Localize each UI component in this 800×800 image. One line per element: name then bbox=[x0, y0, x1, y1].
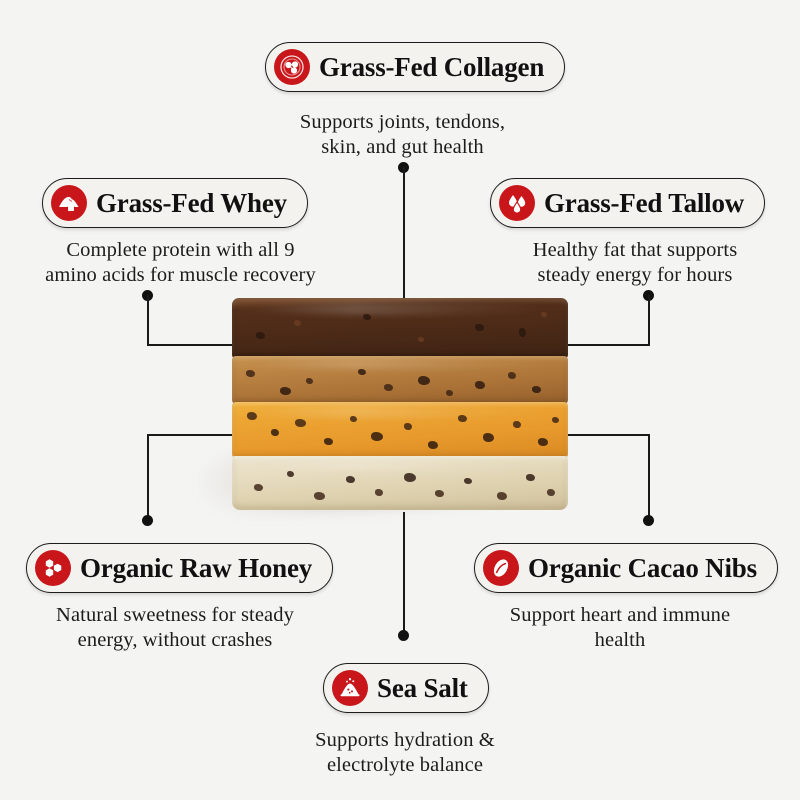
salt-pile-icon bbox=[332, 670, 368, 706]
product-layer-cream bbox=[232, 456, 568, 510]
connector-line-honey-vertical bbox=[147, 434, 149, 520]
cacao-bean-icon bbox=[483, 550, 519, 586]
description-line-2: electrolyte balance bbox=[270, 753, 540, 778]
ingredient-pill-label: Grass-Fed Tallow bbox=[544, 190, 744, 217]
product-image-bar-stack bbox=[232, 298, 568, 510]
honeycomb-icon bbox=[35, 550, 71, 586]
description-line-1: Healthy fat that supports bbox=[490, 238, 780, 263]
fat-droplets-icon bbox=[499, 185, 535, 221]
product-layer-golden-honey bbox=[232, 402, 568, 458]
ingredient-pill-label: Organic Cacao Nibs bbox=[528, 555, 757, 582]
description-line-2: health bbox=[470, 628, 770, 653]
description-line-2: amino acids for muscle recovery bbox=[8, 263, 353, 288]
description-line-1: Supports hydration & bbox=[270, 728, 540, 753]
ingredient-pill-grass-fed-whey[interactable]: Grass-Fed Whey bbox=[42, 178, 308, 228]
ingredient-pill-organic-raw-honey[interactable]: Organic Raw Honey bbox=[26, 543, 333, 593]
ingredient-pill-organic-cacao-nibs[interactable]: Organic Cacao Nibs bbox=[474, 543, 778, 593]
layer-sheen bbox=[245, 359, 554, 370]
connector-line-tallow-vertical bbox=[648, 295, 650, 345]
product-layer-dark-chocolate bbox=[232, 298, 568, 358]
description-line-1: Support heart and immune bbox=[470, 603, 770, 628]
connector-dot-honey bbox=[142, 515, 153, 526]
layer-sheen bbox=[245, 405, 554, 417]
ingredient-description-organic-raw-honey: Natural sweetness for steady energy, wit… bbox=[15, 603, 335, 654]
product-layer-caramel bbox=[232, 356, 568, 404]
collagen-molecule-icon bbox=[274, 49, 310, 85]
ingredient-pill-sea-salt[interactable]: Sea Salt bbox=[323, 663, 489, 713]
connector-line-whey-horizontal bbox=[147, 344, 233, 346]
ingredient-pill-label: Organic Raw Honey bbox=[80, 555, 312, 582]
ingredient-description-sea-salt: Supports hydration & electrolyte balance bbox=[270, 728, 540, 779]
ingredient-pill-label: Grass-Fed Whey bbox=[96, 190, 287, 217]
ingredient-pill-grass-fed-collagen[interactable]: Grass-Fed Collagen bbox=[265, 42, 565, 92]
layer-sheen bbox=[245, 302, 554, 315]
description-line-2: energy, without crashes bbox=[15, 628, 335, 653]
connector-line-cacao-vertical bbox=[648, 434, 650, 520]
description-line-1: Supports joints, tendons, bbox=[240, 110, 565, 135]
ingredient-description-grass-fed-tallow: Healthy fat that supports steady energy … bbox=[490, 238, 780, 289]
connector-dot-sea-salt bbox=[398, 630, 409, 641]
connector-line-tallow-horizontal bbox=[568, 344, 650, 346]
layer-sheen bbox=[245, 459, 554, 471]
connector-line-collagen bbox=[403, 167, 405, 298]
connector-dot-cacao bbox=[643, 515, 654, 526]
ingredient-pill-label: Sea Salt bbox=[377, 675, 468, 702]
protein-scoop-icon bbox=[51, 185, 87, 221]
connector-line-sea-salt bbox=[403, 512, 405, 633]
ingredient-description-organic-cacao-nibs: Support heart and immune health bbox=[470, 603, 770, 654]
ingredient-description-grass-fed-collagen: Supports joints, tendons, skin, and gut … bbox=[240, 110, 565, 161]
ingredient-description-grass-fed-whey: Complete protein with all 9 amino acids … bbox=[8, 238, 353, 289]
ingredient-pill-grass-fed-tallow[interactable]: Grass-Fed Tallow bbox=[490, 178, 765, 228]
connector-line-cacao-horizontal bbox=[568, 434, 650, 436]
description-line-2: steady energy for hours bbox=[490, 263, 780, 288]
connector-dot-whey bbox=[142, 290, 153, 301]
connector-line-whey-vertical bbox=[147, 295, 149, 345]
description-line-1: Complete protein with all 9 bbox=[8, 238, 353, 263]
connector-dot-collagen bbox=[398, 162, 409, 173]
ingredient-pill-label: Grass-Fed Collagen bbox=[319, 54, 544, 81]
ingredient-infographic: Grass-Fed Collagen Supports joints, tend… bbox=[0, 0, 800, 800]
description-line-2: skin, and gut health bbox=[240, 135, 565, 160]
connector-dot-tallow bbox=[643, 290, 654, 301]
description-line-1: Natural sweetness for steady bbox=[15, 603, 335, 628]
